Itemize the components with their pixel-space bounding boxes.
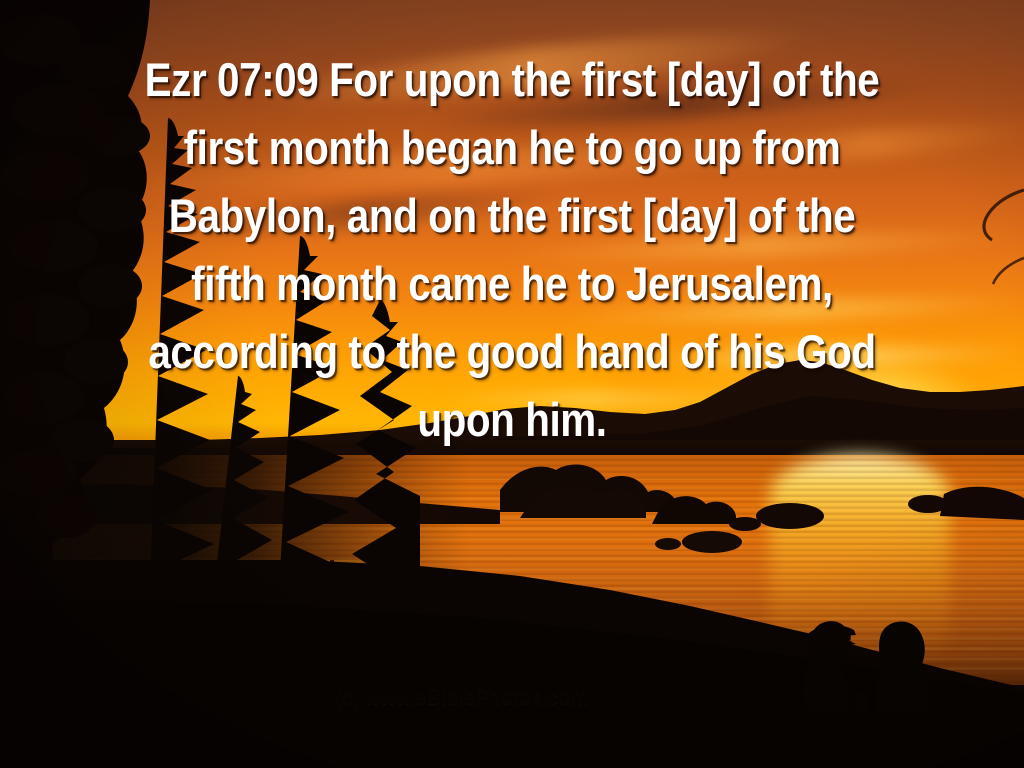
pine-tree-silhouettes (0, 0, 420, 640)
watermark-text: (c) www.eBiblePhotos.com (335, 686, 588, 708)
bible-verse-image: Ezr 07:09 For upon the first [day] of th… (0, 0, 1024, 768)
two-people-silhouette (770, 608, 950, 728)
